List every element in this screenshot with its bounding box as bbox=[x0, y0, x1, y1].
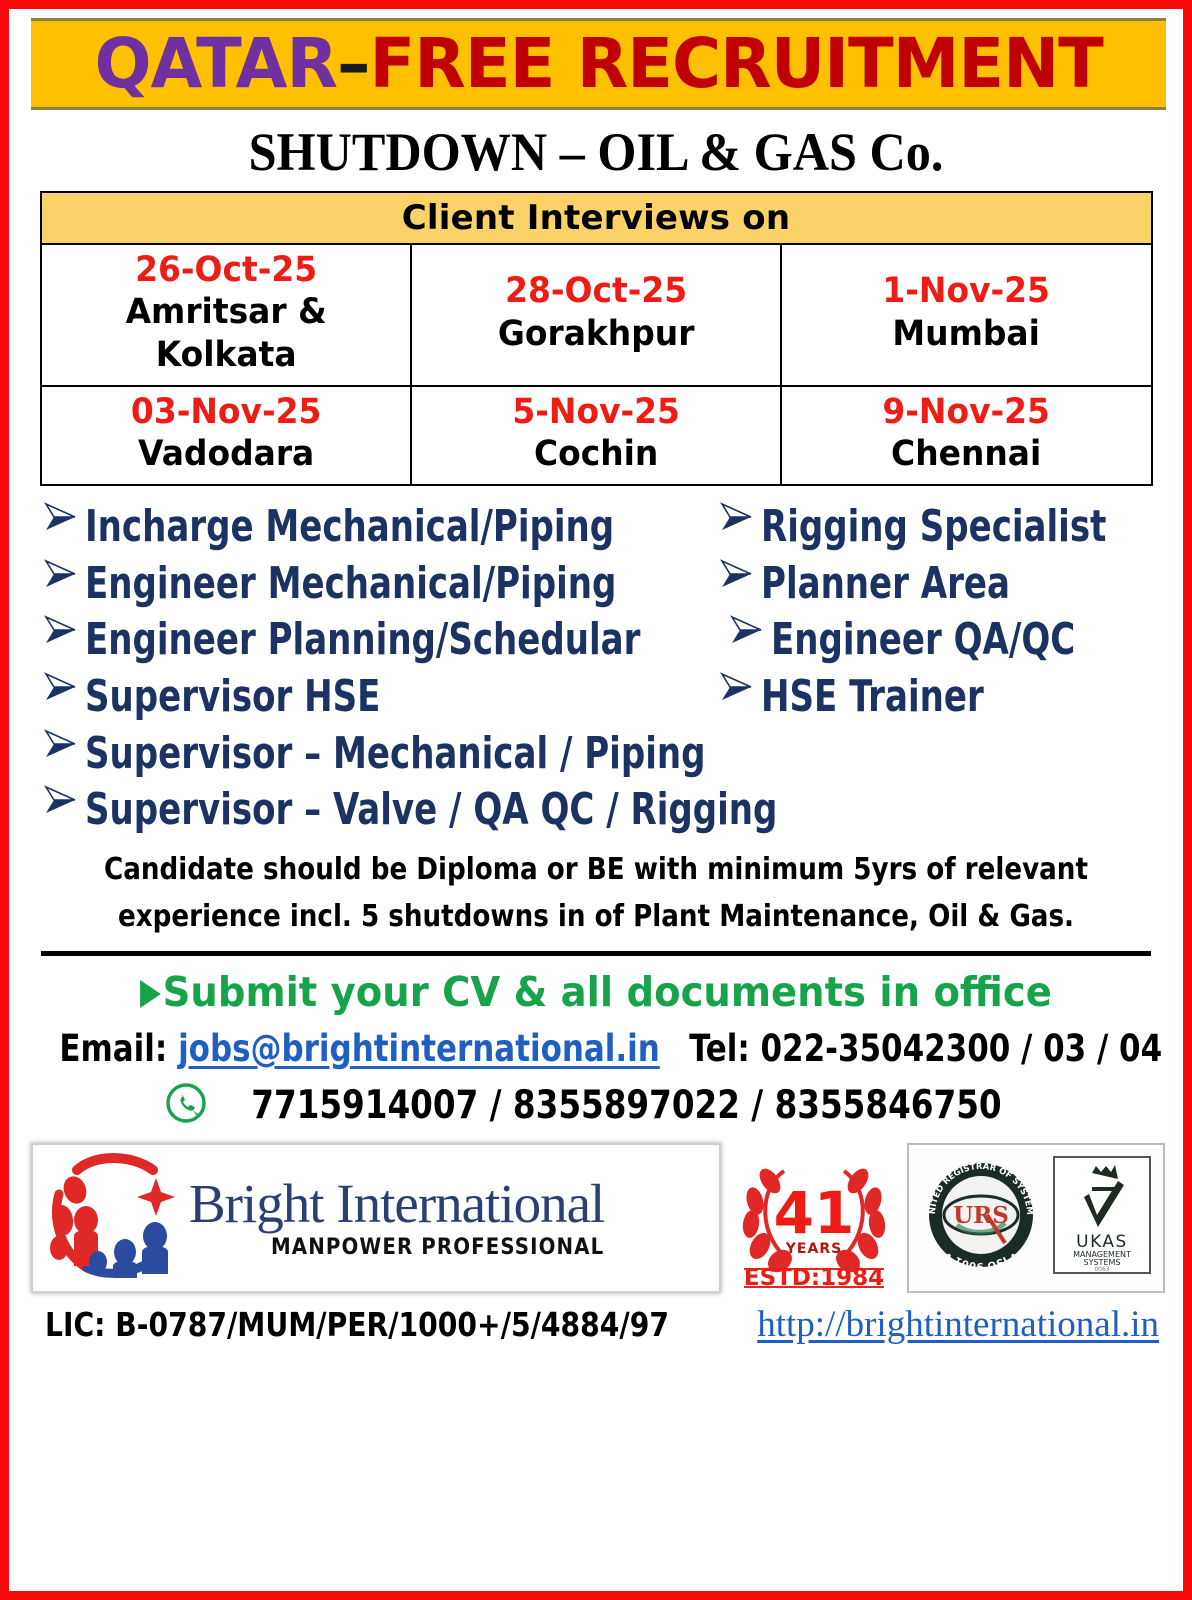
job-entry: Supervisor HSE bbox=[19, 670, 709, 724]
submit-cv-text: Submit your CV & all documents in office bbox=[163, 968, 1052, 1016]
job-entry: HSE Trainer bbox=[709, 670, 1173, 724]
job-title: Engineer QA/QC bbox=[771, 613, 1075, 667]
website-link[interactable]: http://brightinternational.in bbox=[757, 1303, 1159, 1346]
job-entry: Rigging Specialist bbox=[709, 500, 1173, 554]
contact-line-whatsapp: 7715914007 / 8355897022 / 8355846750 bbox=[19, 1080, 1173, 1131]
company-logo-box: Bright International MANPOWER PROFESSION… bbox=[31, 1143, 721, 1293]
arrow-bullet-icon bbox=[717, 667, 761, 707]
arrow-bullet-icon bbox=[41, 780, 85, 820]
arrow-bullet-icon bbox=[41, 554, 85, 594]
svg-text:YEARS: YEARS bbox=[785, 1241, 842, 1257]
contact-line-primary: Email: jobs@brightinternational.in Tel: … bbox=[59, 1027, 1132, 1070]
triangle-bullet-icon bbox=[140, 980, 161, 1008]
job-title: Engineer Mechanical/Piping bbox=[85, 557, 616, 611]
job-title: Engineer Planning/Schedular bbox=[85, 613, 640, 667]
interview-cell: 03-Nov-25 Vadodara bbox=[41, 386, 411, 485]
header-offer: FREE RECRUITMENT bbox=[369, 24, 1102, 104]
interview-date: 28-Oct-25 bbox=[425, 270, 767, 313]
job-title: Supervisor – Valve / QA QC / Rigging bbox=[85, 783, 777, 837]
urs-iso-seal-icon: URS UNITED REGISTRAR OF SYSTEMS • ISO 90… bbox=[917, 1151, 1045, 1284]
interview-date: 5-Nov-25 bbox=[425, 391, 767, 434]
interview-cell: 9-Nov-25 Chennai bbox=[781, 386, 1151, 485]
page-title: SHUTDOWN – OIL & GAS Co. bbox=[59, 124, 1132, 181]
svg-text:UKAS: UKAS bbox=[1076, 1232, 1128, 1252]
job-entry: Supervisor – Mechanical / Piping bbox=[19, 727, 1173, 781]
header-country: QATAR bbox=[94, 24, 336, 104]
arrow-bullet-icon bbox=[41, 610, 85, 650]
interview-date: 9-Nov-25 bbox=[795, 391, 1137, 434]
eligibility-line-2: experience incl. 5 shutdowns in of Plant… bbox=[65, 894, 1126, 941]
recruitment-poster: QATAR–FREE RECRUITMENT SHUTDOWN – OIL & … bbox=[0, 0, 1192, 1600]
ukas-accreditation-icon: UKAS MANAGEMENT SYSTEMS 0063 bbox=[1048, 1151, 1156, 1284]
arrow-bullet-icon bbox=[727, 610, 771, 650]
interview-cell: 5-Nov-25 Cochin bbox=[411, 386, 781, 485]
header-dash: – bbox=[337, 24, 369, 104]
company-name: Bright International bbox=[189, 1176, 604, 1231]
job-entry: Engineer QA/QC bbox=[719, 613, 1173, 667]
svg-text:41: 41 bbox=[774, 1179, 855, 1247]
header-banner-text: QATAR–FREE RECRUITMENT bbox=[94, 30, 1102, 99]
job-title: HSE Trainer bbox=[761, 670, 984, 724]
list-item: Engineer Planning/Schedular Engineer QA/… bbox=[19, 613, 1173, 667]
job-positions-list: Incharge Mechanical/Piping Rigging Speci… bbox=[19, 500, 1173, 837]
section-divider bbox=[41, 951, 1151, 956]
telephone-text: Tel: 022-35042300 / 03 / 04 bbox=[689, 1027, 1162, 1070]
anniversary-badge: 41 YEARS ESTD:1984 bbox=[729, 1143, 899, 1293]
job-entry: Incharge Mechanical/Piping bbox=[19, 500, 709, 554]
job-entry: Engineer Mechanical/Piping bbox=[19, 557, 709, 611]
whatsapp-icon bbox=[163, 1080, 209, 1131]
license-number: LIC: B-0787/MUM/PER/1000+/5/4884/97 bbox=[45, 1305, 669, 1344]
bright-international-logo-icon bbox=[43, 1148, 183, 1287]
list-item: Supervisor – Valve / QA QC / Rigging bbox=[19, 783, 1173, 837]
header-banner: QATAR–FREE RECRUITMENT bbox=[31, 18, 1166, 110]
company-logo-wordmark: Bright International MANPOWER PROFESSION… bbox=[189, 1176, 604, 1260]
arrow-bullet-icon bbox=[717, 554, 761, 594]
company-tagline: MANPOWER PROFESSIONAL bbox=[189, 1235, 604, 1260]
interview-city: Gorakhpur bbox=[425, 313, 767, 356]
interview-cell: 28-Oct-25 Gorakhpur bbox=[411, 244, 781, 386]
list-item: Engineer Mechanical/Piping Planner Area bbox=[19, 557, 1173, 611]
table-row: 26-Oct-25 Amritsar & Kolkata 28-Oct-25 G… bbox=[41, 244, 1152, 386]
arrow-bullet-icon bbox=[41, 667, 85, 707]
interview-city: Chennai bbox=[795, 433, 1137, 476]
interview-cell: 1-Nov-25 Mumbai bbox=[781, 244, 1151, 386]
whatsapp-numbers: 7715914007 / 8355897022 / 8355846750 bbox=[251, 1083, 1001, 1128]
arrow-bullet-icon bbox=[41, 497, 85, 537]
job-title: Rigging Specialist bbox=[761, 500, 1106, 554]
submit-cv-callout: Submit your CV & all documents in office bbox=[54, 970, 1139, 1015]
email-label: Email: bbox=[59, 1027, 167, 1070]
interview-city: Vadodara bbox=[54, 433, 396, 476]
table-header-title: Client Interviews on bbox=[41, 192, 1152, 244]
certification-logos-box: URS UNITED REGISTRAR OF SYSTEMS • ISO 90… bbox=[907, 1143, 1165, 1293]
eligibility-line-1: Candidate should be Diploma or BE with m… bbox=[65, 847, 1126, 894]
svg-text:ESTD:1984: ESTD:1984 bbox=[744, 1265, 884, 1291]
poster-inner: QATAR–FREE RECRUITMENT SHUTDOWN – OIL & … bbox=[9, 9, 1183, 1591]
svg-text:0063: 0063 bbox=[1094, 1266, 1109, 1273]
job-entry: Engineer Planning/Schedular bbox=[19, 613, 719, 667]
footer-legal-line: LIC: B-0787/MUM/PER/1000+/5/4884/97 http… bbox=[45, 1303, 1159, 1346]
table-row: 03-Nov-25 Vadodara 5-Nov-25 Cochin 9-Nov… bbox=[41, 386, 1152, 485]
job-entry: Planner Area bbox=[709, 557, 1173, 611]
interview-cell: 26-Oct-25 Amritsar & Kolkata bbox=[41, 244, 411, 386]
job-entry: Supervisor – Valve / QA QC / Rigging bbox=[19, 783, 1173, 837]
interview-schedule-table: Client Interviews on 26-Oct-25 Amritsar … bbox=[40, 191, 1153, 486]
job-title: Planner Area bbox=[761, 557, 1010, 611]
interview-date: 1-Nov-25 bbox=[795, 270, 1137, 313]
list-item: Incharge Mechanical/Piping Rigging Speci… bbox=[19, 500, 1173, 554]
interview-city: Cochin bbox=[425, 433, 767, 476]
table-header-row: Client Interviews on bbox=[41, 192, 1152, 244]
svg-text:URS: URS bbox=[953, 1202, 1009, 1229]
email-link[interactable]: jobs@brightinternational.in bbox=[178, 1027, 660, 1070]
interview-date: 26-Oct-25 bbox=[54, 249, 396, 292]
job-title: Incharge Mechanical/Piping bbox=[85, 500, 614, 554]
list-item: Supervisor – Mechanical / Piping bbox=[19, 727, 1173, 781]
interview-date: 03-Nov-25 bbox=[54, 391, 396, 434]
footer-branding: Bright International MANPOWER PROFESSION… bbox=[31, 1143, 1165, 1293]
job-title: Supervisor – Mechanical / Piping bbox=[85, 727, 705, 781]
list-item: Supervisor HSE HSE Trainer bbox=[19, 670, 1173, 724]
arrow-bullet-icon bbox=[717, 497, 761, 537]
eligibility-text: Candidate should be Diploma or BE with m… bbox=[65, 847, 1126, 941]
job-title: Supervisor HSE bbox=[85, 670, 380, 724]
arrow-bullet-icon bbox=[41, 724, 85, 764]
interview-city: Amritsar & Kolkata bbox=[54, 291, 396, 376]
interview-city: Mumbai bbox=[795, 313, 1137, 356]
